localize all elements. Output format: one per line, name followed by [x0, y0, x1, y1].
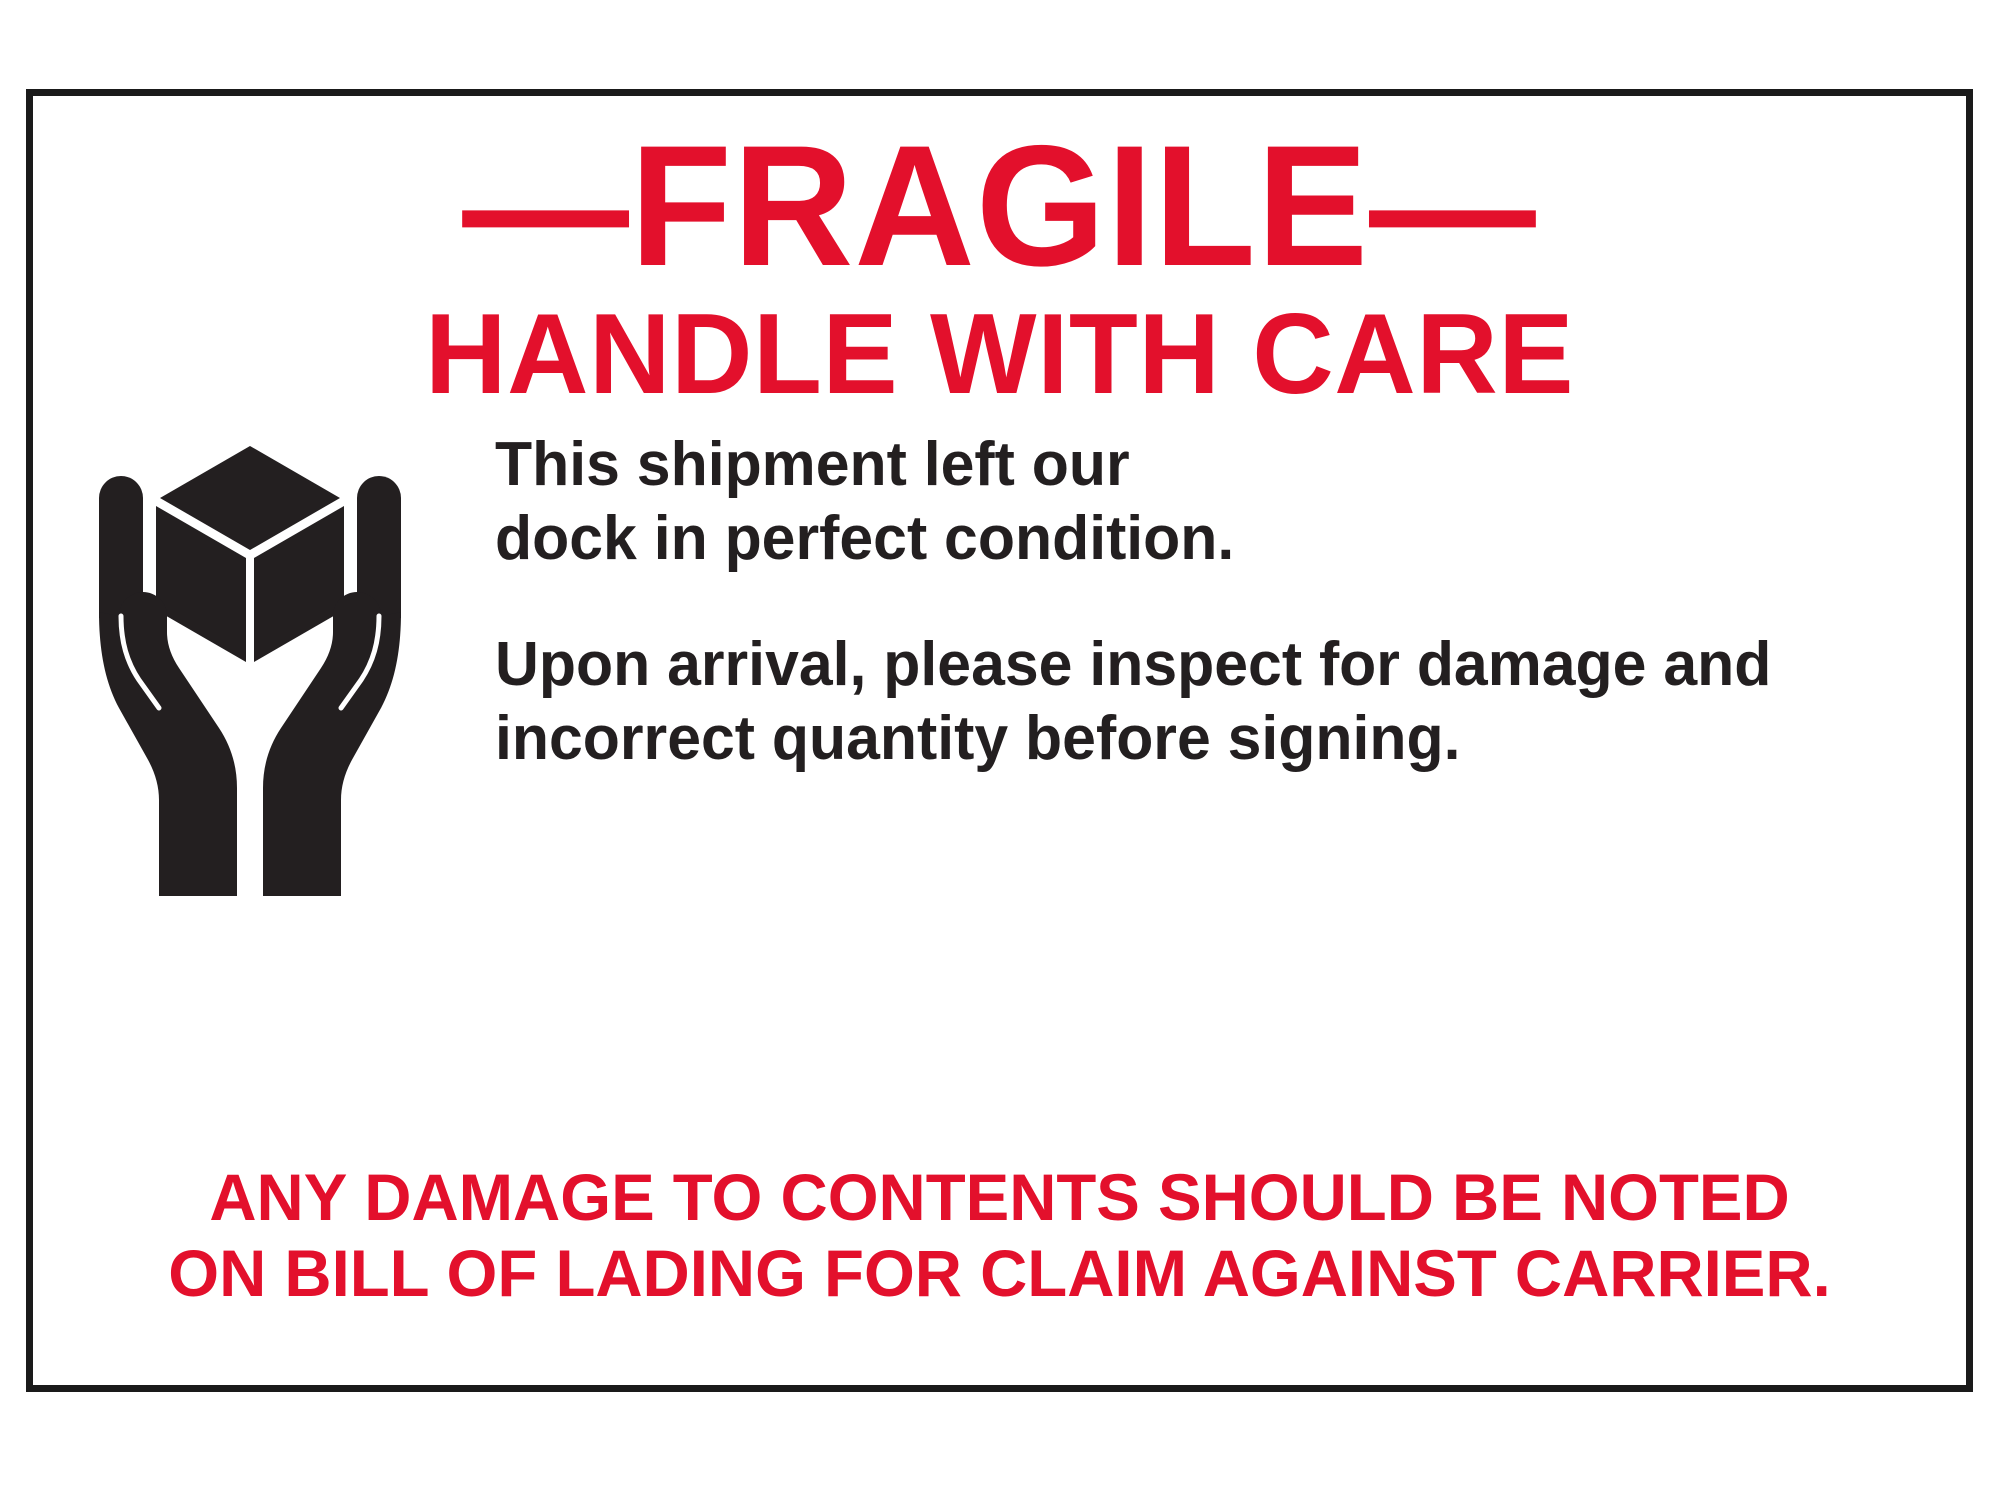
footer-line-bill-of-lading: ON BILL OF LADING FOR CLAIM AGAINST CARR…: [43, 1235, 1957, 1311]
footer-notice: ANY DAMAGE TO CONTENTS SHOULD BE NOTED O…: [33, 1159, 1966, 1311]
middle-row: This shipment left our dock in perfect c…: [33, 416, 1966, 916]
handle-with-care-headline: HANDLE WITH CARE: [43, 290, 1957, 414]
body-paragraph-inspect: Upon arrival, please inspect for damage …: [495, 628, 1896, 776]
footer-line-damage-noted: ANY DAMAGE TO CONTENTS SHOULD BE NOTED: [43, 1159, 1957, 1235]
label-border: —FRAGILE— HANDLE WITH CARE: [26, 89, 1973, 1392]
headline-block: —FRAGILE— HANDLE WITH CARE: [33, 122, 1966, 414]
hands-holding-box-icon: [75, 436, 425, 906]
label-canvas: —FRAGILE— HANDLE WITH CARE: [0, 0, 2000, 1499]
fragile-headline: —FRAGILE—: [62, 122, 1937, 290]
body-paragraph-condition: This shipment left our dock in perfect c…: [495, 428, 1269, 576]
label-inner: —FRAGILE— HANDLE WITH CARE: [33, 96, 1966, 1385]
body-copy: This shipment left our dock in perfect c…: [495, 428, 1936, 776]
